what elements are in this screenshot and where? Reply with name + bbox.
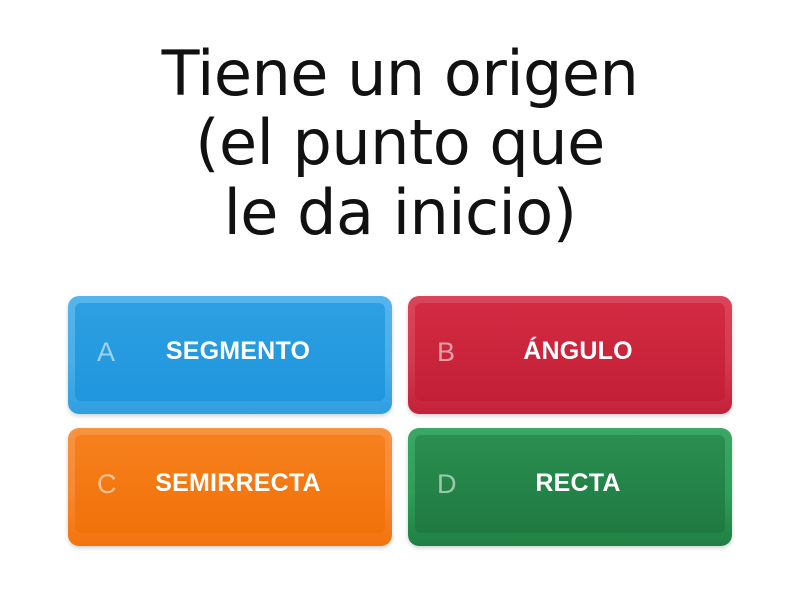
quiz-stage: Tiene un origen (el punto que le da inic… — [0, 0, 800, 600]
answer-option-c[interactable]: C SEMIRRECTA — [68, 428, 392, 546]
answer-option-d[interactable]: D RECTA — [408, 428, 732, 546]
answer-option-b-label: ÁNGULO — [415, 338, 725, 366]
answer-option-d-face: D RECTA — [415, 435, 725, 533]
answer-option-a-face: A SEGMENTO — [75, 303, 385, 401]
answer-option-b[interactable]: B ÁNGULO — [408, 296, 732, 414]
answer-option-c-face: C SEMIRRECTA — [75, 435, 385, 533]
answer-option-a[interactable]: A SEGMENTO — [68, 296, 392, 414]
answer-option-b-face: B ÁNGULO — [415, 303, 725, 401]
answer-options-grid: A SEGMENTO B ÁNGULO C SEMIRRECTA D RECTA — [68, 296, 732, 546]
answer-option-d-label: RECTA — [415, 470, 725, 498]
answer-option-a-label: SEGMENTO — [75, 338, 385, 366]
question-area: Tiene un origen (el punto que le da inic… — [40, 8, 760, 278]
question-text: Tiene un origen (el punto que le da inic… — [162, 39, 639, 247]
answer-option-c-label: SEMIRRECTA — [75, 470, 385, 498]
